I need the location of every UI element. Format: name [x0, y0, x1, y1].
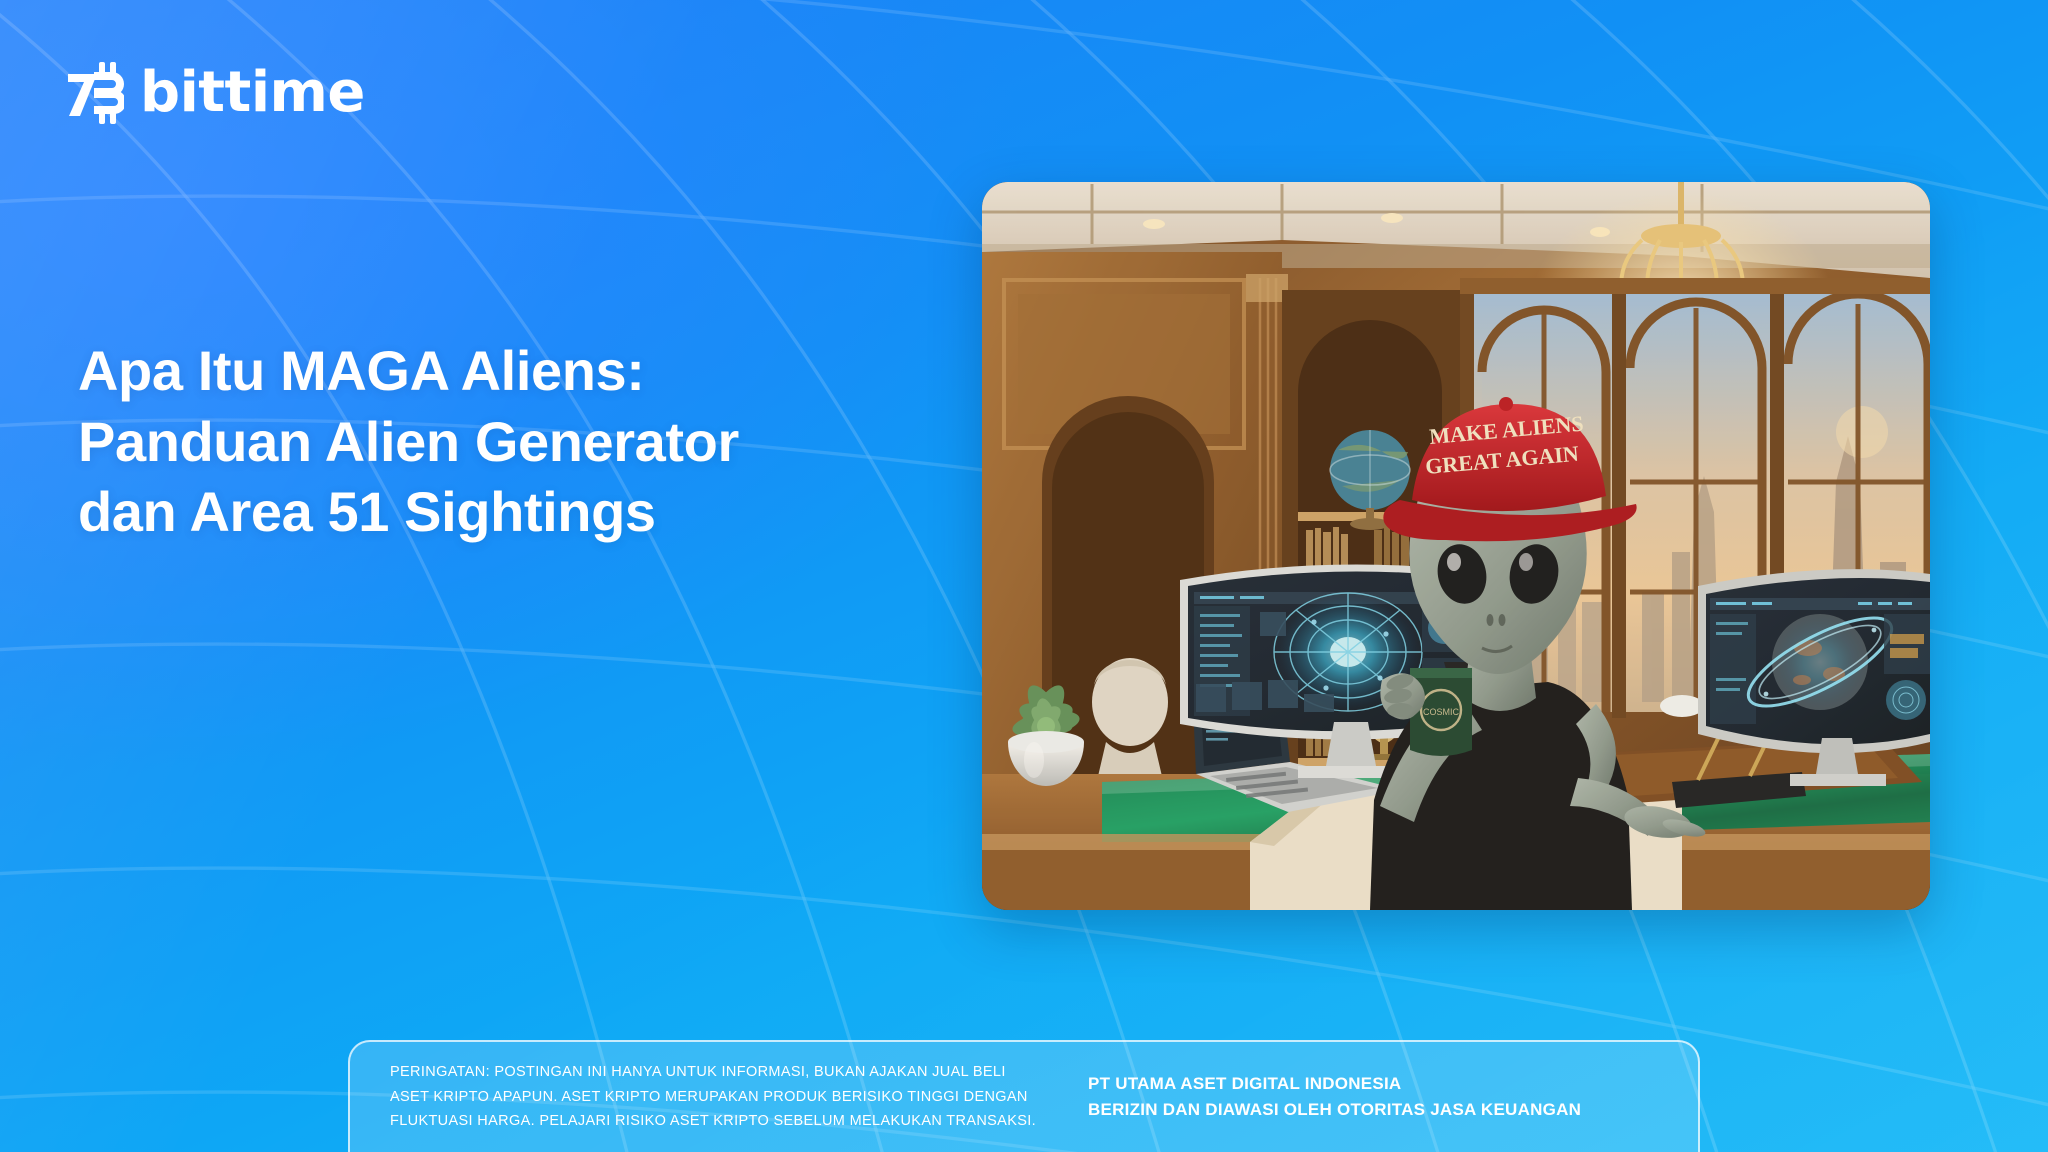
disclaimer-banner: PERINGATAN: POSTINGAN INI HANYA UNTUK IN…	[348, 1040, 1700, 1152]
headline-line-1: Apa Itu MAGA Aliens:	[78, 336, 858, 407]
headline-line-3: dan Area 51 Sightings	[78, 477, 858, 548]
risk-warning-line-2: ASET KRIPTO APAPUN. ASET KRIPTO MERUPAKA…	[390, 1085, 1036, 1110]
bitcoin-seven-b-icon	[66, 62, 124, 124]
risk-warning-line-1: PERINGATAN: POSTINGAN INI HANYA UNTUK IN…	[390, 1060, 1036, 1085]
brand-logo[interactable]: bittime	[66, 62, 365, 124]
company-license-text: PT UTAMA ASET DIGITAL INDONESIA BERIZIN …	[1088, 1071, 1581, 1123]
hero-image: MAKE ALIENS GREAT AGAIN COSMIC	[982, 182, 1930, 910]
headline-line-2: Panduan Alien Generator	[78, 407, 858, 478]
company-name: PT UTAMA ASET DIGITAL INDONESIA	[1088, 1071, 1581, 1097]
brand-wordmark: bittime	[140, 65, 365, 121]
risk-warning-line-3: FLUKTUASI HARGA. PELAJARI RISIKO ASET KR…	[390, 1109, 1036, 1134]
company-license: BERIZIN DAN DIAWASI OLEH OTORITAS JASA K…	[1088, 1097, 1581, 1123]
risk-warning-text: PERINGATAN: POSTINGAN INI HANYA UNTUK IN…	[390, 1060, 1036, 1135]
hero-illustration: MAKE ALIENS GREAT AGAIN COSMIC	[982, 182, 1930, 910]
page-title: Apa Itu MAGA Aliens: Panduan Alien Gener…	[78, 336, 858, 548]
